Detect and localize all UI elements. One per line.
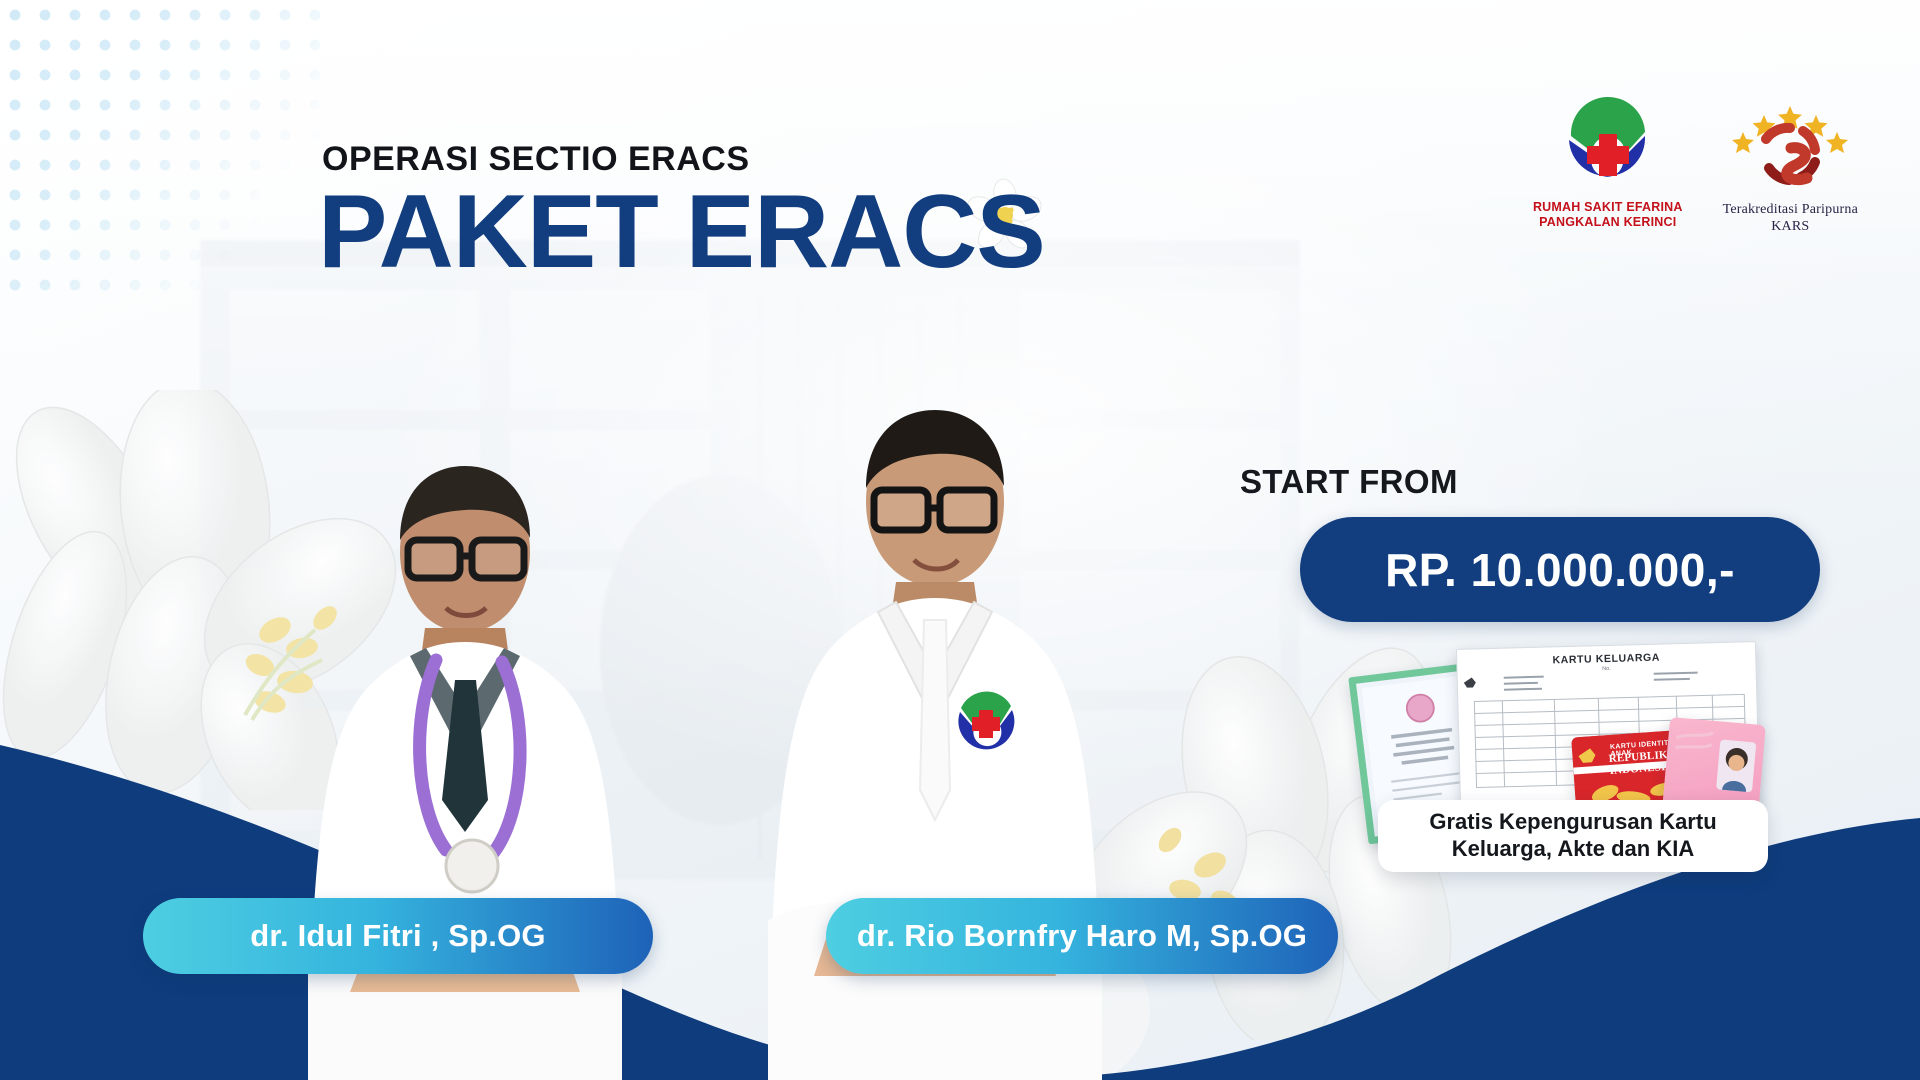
doctor-name-badge-1: dr. Idul Fitri , Sp.OG [143, 898, 653, 974]
hospital-name-line2: PANGKALAN KERINCI [1533, 215, 1683, 230]
promo-banner: Sp.OG [0, 0, 1920, 1080]
hospital-logo-block: RUMAH SAKIT EFARINA PANGKALAN KERINCI [1533, 92, 1683, 230]
kars-q-stars-logo-icon [1729, 92, 1851, 196]
promo-caption-card: Gratis Kepengurusan Kartu Keluarga, Akte… [1378, 800, 1768, 872]
halftone-dot-pattern [0, 0, 330, 300]
price-badge: RP. 10.000.000,- [1300, 517, 1820, 622]
accreditation-line2: KARS [1723, 219, 1858, 236]
start-from-label: START FROM [1240, 463, 1458, 501]
doctor-name-badge-2: dr. Rio Bornfry Haro M, Sp.OG [826, 898, 1338, 974]
accreditation-line1: Terakreditasi Paripurna [1723, 202, 1858, 219]
doctor-name-1: dr. Idul Fitri , Sp.OG [250, 918, 545, 954]
logo-group: RUMAH SAKIT EFARINA PANGKALAN KERINCI [1533, 92, 1858, 236]
accreditation-caption: Terakreditasi Paripurna KARS [1723, 202, 1858, 236]
hospital-logo-caption: RUMAH SAKIT EFARINA PANGKALAN KERINCI [1533, 200, 1683, 230]
hospital-name-line1: RUMAH SAKIT EFARINA [1533, 200, 1683, 215]
hospital-cross-logo-icon [1549, 92, 1667, 196]
accreditation-logo-block: Terakreditasi Paripurna KARS [1723, 92, 1858, 236]
doctor-name-2: dr. Rio Bornfry Haro M, Sp.OG [857, 918, 1307, 954]
doctor-photo-idul-fitri: Sp.OG [250, 380, 680, 1080]
price-amount: RP. 10.000.000,- [1385, 543, 1735, 597]
promo-caption-text: Gratis Kepengurusan Kartu Keluarga, Akte… [1378, 809, 1768, 863]
page-title: PAKET ERACS [318, 180, 1045, 284]
